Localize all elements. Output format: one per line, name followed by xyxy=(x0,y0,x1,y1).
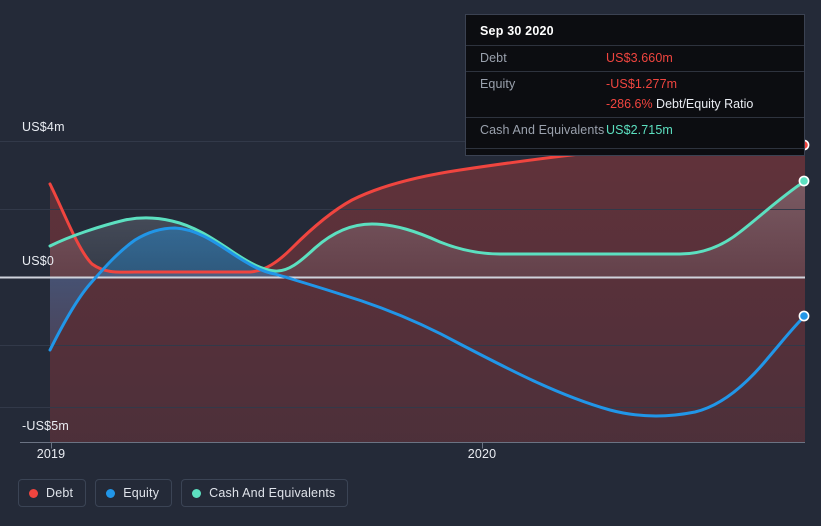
tooltip-debt-label: Debt xyxy=(480,51,606,66)
tooltip-row-debt: Debt US$3.660m xyxy=(466,45,804,71)
x-axis-label-2019: 2019 xyxy=(37,447,66,461)
tooltip-bottom-divider xyxy=(466,148,804,149)
debt-color-dot-icon xyxy=(29,489,38,498)
x-axis xyxy=(20,443,805,449)
data-tooltip: Sep 30 2020 Debt US$3.660m Equity -US$1.… xyxy=(465,14,805,156)
tooltip-cash-value: US$2.715m xyxy=(606,123,673,138)
legend-label-cash: Cash And Equivalents xyxy=(209,486,335,500)
legend-label-equity: Equity xyxy=(123,486,159,500)
tooltip-ratio-label: Debt/Equity Ratio xyxy=(656,97,753,111)
legend-item-cash[interactable]: Cash And Equivalents xyxy=(181,479,348,507)
tooltip-debt-value: US$3.660m xyxy=(606,51,673,66)
x-axis-label-2020: 2020 xyxy=(468,447,497,461)
equity-color-dot-icon xyxy=(106,489,115,498)
y-axis-label-bottom: -US$5m xyxy=(22,419,69,433)
tooltip-row-cash: Cash And Equivalents US$2.715m xyxy=(466,117,804,143)
equity-endpoint-marker xyxy=(799,311,808,320)
tooltip-ratio: -286.6% Debt/Equity Ratio xyxy=(606,97,753,112)
tooltip-equity-label: Equity xyxy=(480,77,606,92)
y-axis-label-zero: US$0 xyxy=(22,254,54,268)
tooltip-row-equity: Equity -US$1.277m xyxy=(466,71,804,97)
y-axis-label-top: US$4m xyxy=(22,120,65,134)
legend-item-equity[interactable]: Equity xyxy=(95,479,172,507)
tooltip-title: Sep 30 2020 xyxy=(466,23,804,45)
tooltip-ratio-value: -286.6% xyxy=(606,97,653,111)
cash-endpoint-marker xyxy=(799,176,808,185)
tooltip-cash-label: Cash And Equivalents xyxy=(480,123,606,138)
legend-item-debt[interactable]: Debt xyxy=(18,479,86,507)
debt-area xyxy=(50,144,805,442)
financial-chart: US$4m US$0 -US$5m 2019 2020 Sep 30 2020 … xyxy=(0,0,821,526)
chart-legend: Debt Equity Cash And Equivalents xyxy=(18,479,348,507)
tooltip-row-ratio: -286.6% Debt/Equity Ratio xyxy=(466,97,804,117)
cash-color-dot-icon xyxy=(192,489,201,498)
tooltip-equity-value: -US$1.277m xyxy=(606,77,677,92)
legend-label-debt: Debt xyxy=(46,486,73,500)
